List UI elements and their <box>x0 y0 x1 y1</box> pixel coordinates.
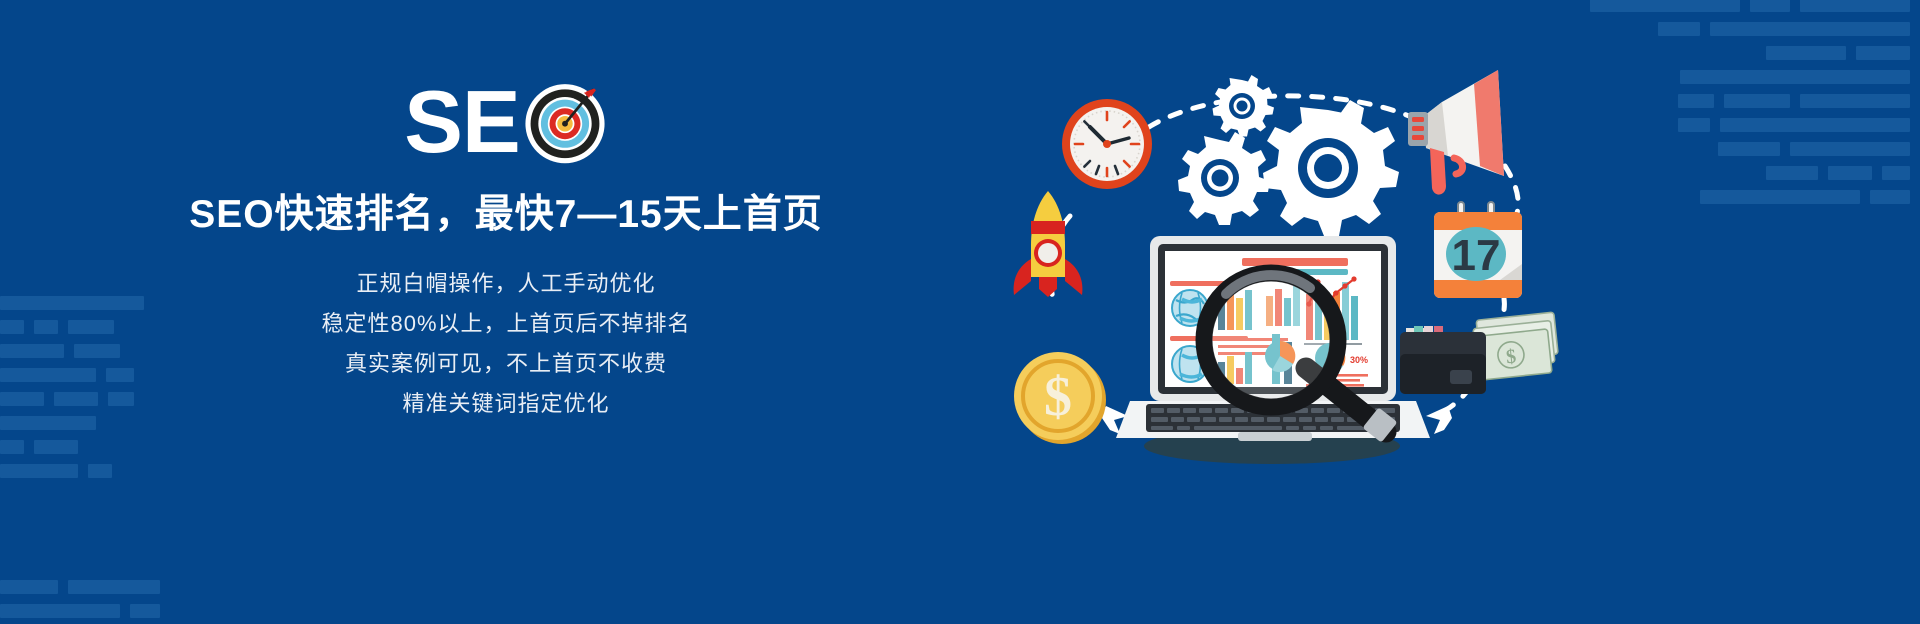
wallet-money-icon: $ <box>1400 312 1560 394</box>
decorative-code-lines-midleft <box>0 296 200 488</box>
benefit-list: 正规白帽操作，人工手动优化 稳定性80%以上，上首页后不掉排名 真实案例可见，不… <box>186 273 826 415</box>
clock-icon <box>1062 99 1152 189</box>
seo-promo-banner: SE SEO快速排名，最快7—15天上首页 <box>0 0 1920 624</box>
target-bullseye-icon <box>522 79 608 165</box>
banner-text-column: SE SEO快速排名，最快7—15天上首页 <box>186 74 826 433</box>
laptop-trackpad <box>1238 432 1312 441</box>
megaphone-icon <box>1408 70 1504 195</box>
gears-icon <box>1178 75 1399 236</box>
list-item: 真实案例可见，不上首页不收费 <box>186 353 826 375</box>
list-item: 稳定性80%以上，上首页后不掉排名 <box>186 313 826 335</box>
calendar-icon: 17 <box>1434 202 1522 298</box>
rocket-icon <box>1014 191 1083 297</box>
calendar-day-number: 17 <box>1452 231 1501 280</box>
pie-percentage-label: 30% <box>1350 355 1368 365</box>
decorative-code-lines-bottomleft <box>0 580 320 624</box>
seo-logo: SE <box>186 74 826 170</box>
dollar-coin-icon: $ <box>1014 352 1106 444</box>
arrow-head-right <box>1426 406 1452 434</box>
seo-logo-text: SE <box>404 78 519 166</box>
list-item: 精准关键词指定优化 <box>186 393 826 415</box>
seo-analytics-illustration: $ <box>1010 46 1570 466</box>
page-title: SEO快速排名，最快7—15天上首页 <box>186 192 826 239</box>
list-item: 正规白帽操作，人工手动优化 <box>186 273 826 295</box>
svg-text:$: $ <box>1044 366 1072 428</box>
